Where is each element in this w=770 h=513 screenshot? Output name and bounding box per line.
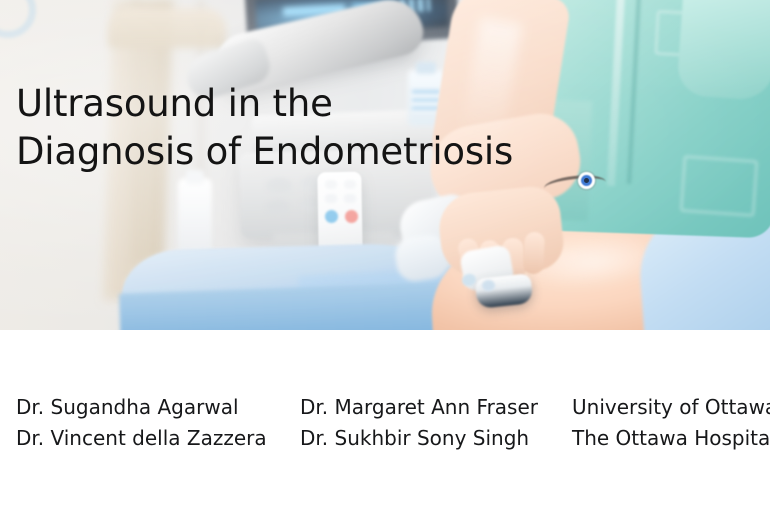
fingernail bbox=[482, 280, 495, 291]
scrub-side-pocket bbox=[680, 155, 758, 216]
slide-title: Ultrasound in the Diagnosis of Endometri… bbox=[16, 80, 576, 176]
affiliation-name: University of Ottawa bbox=[572, 392, 770, 423]
author-name: Dr. Vincent della Zazzera bbox=[16, 423, 267, 454]
authors-section: Dr. Sugandha Agarwal Dr. Vincent della Z… bbox=[0, 330, 770, 513]
presentation-title-slide: Ultrasound in the Diagnosis of Endometri… bbox=[0, 0, 770, 513]
scrub-sleeve bbox=[676, 0, 770, 101]
affiliations-column: University of Ottawa The Ottawa Hospital bbox=[572, 392, 770, 454]
remote-button bbox=[325, 194, 337, 203]
supply-bottle-cap bbox=[416, 62, 436, 74]
remote-button bbox=[344, 180, 356, 189]
affiliation-name: The Ottawa Hospital bbox=[572, 423, 770, 454]
authors-column-2: Dr. Margaret Ann Fraser Dr. Sukhbir Sony… bbox=[300, 392, 538, 454]
remote-button bbox=[325, 180, 337, 189]
gel-bottle bbox=[178, 178, 212, 252]
console-knob bbox=[266, 200, 290, 214]
author-name: Dr. Margaret Ann Fraser bbox=[300, 392, 538, 423]
author-name: Dr. Sukhbir Sony Singh bbox=[300, 423, 538, 454]
remote-button bbox=[344, 194, 356, 203]
remote-button-blue bbox=[325, 210, 338, 223]
finger bbox=[523, 232, 545, 275]
authors-column-1: Dr. Sugandha Agarwal Dr. Vincent della Z… bbox=[16, 392, 267, 454]
author-name: Dr. Sugandha Agarwal bbox=[16, 392, 267, 423]
remote-button-pink bbox=[345, 210, 358, 223]
exam-chair-armrest bbox=[108, 8, 226, 48]
evil-eye-bead-pupil bbox=[584, 178, 589, 183]
console-knob bbox=[266, 178, 292, 194]
